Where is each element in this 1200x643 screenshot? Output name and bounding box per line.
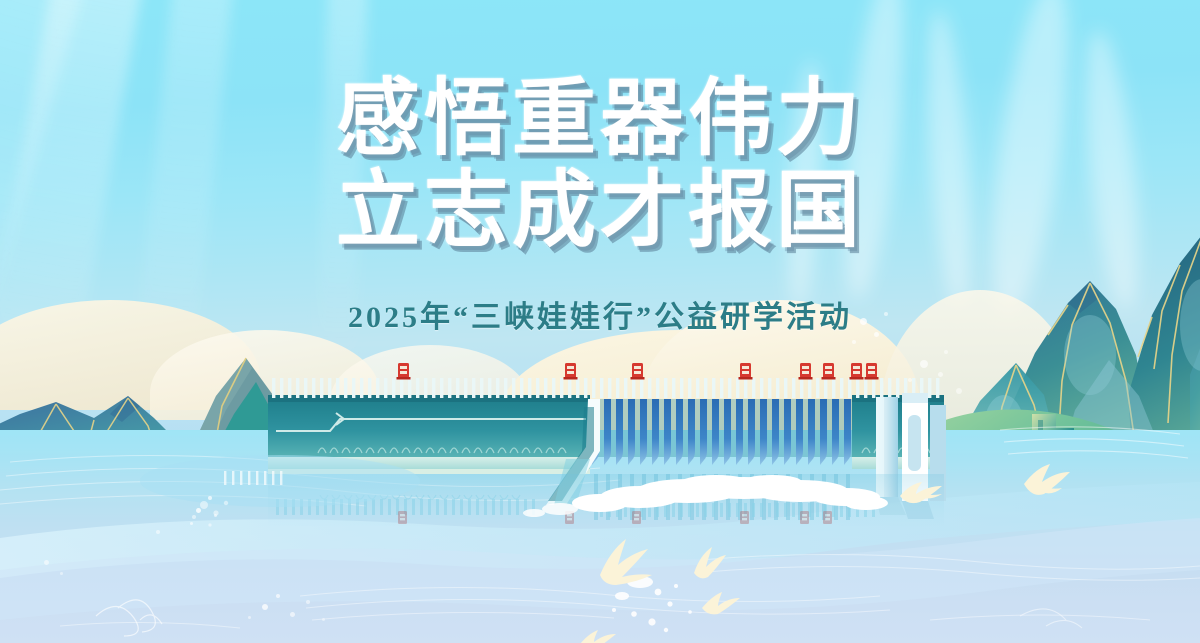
swallow-bird-icon xyxy=(578,628,618,643)
subtitle: 2025年“三峡娃娃行”公益研学活动 xyxy=(0,292,1200,336)
three-gorges-dam xyxy=(0,355,1200,555)
swallow-bird-icon xyxy=(700,590,742,622)
swallow-bird-icon xyxy=(688,545,732,585)
dam-crest-tower xyxy=(397,363,879,380)
swallow-bird-icon xyxy=(1018,462,1074,504)
swallow-bird-icon xyxy=(590,535,660,591)
poster-canvas: 感悟重器伟力 立志成才报国 2025年“三峡娃娃行”公益研学活动 xyxy=(0,0,1200,643)
swallow-bird-icon xyxy=(896,478,948,512)
